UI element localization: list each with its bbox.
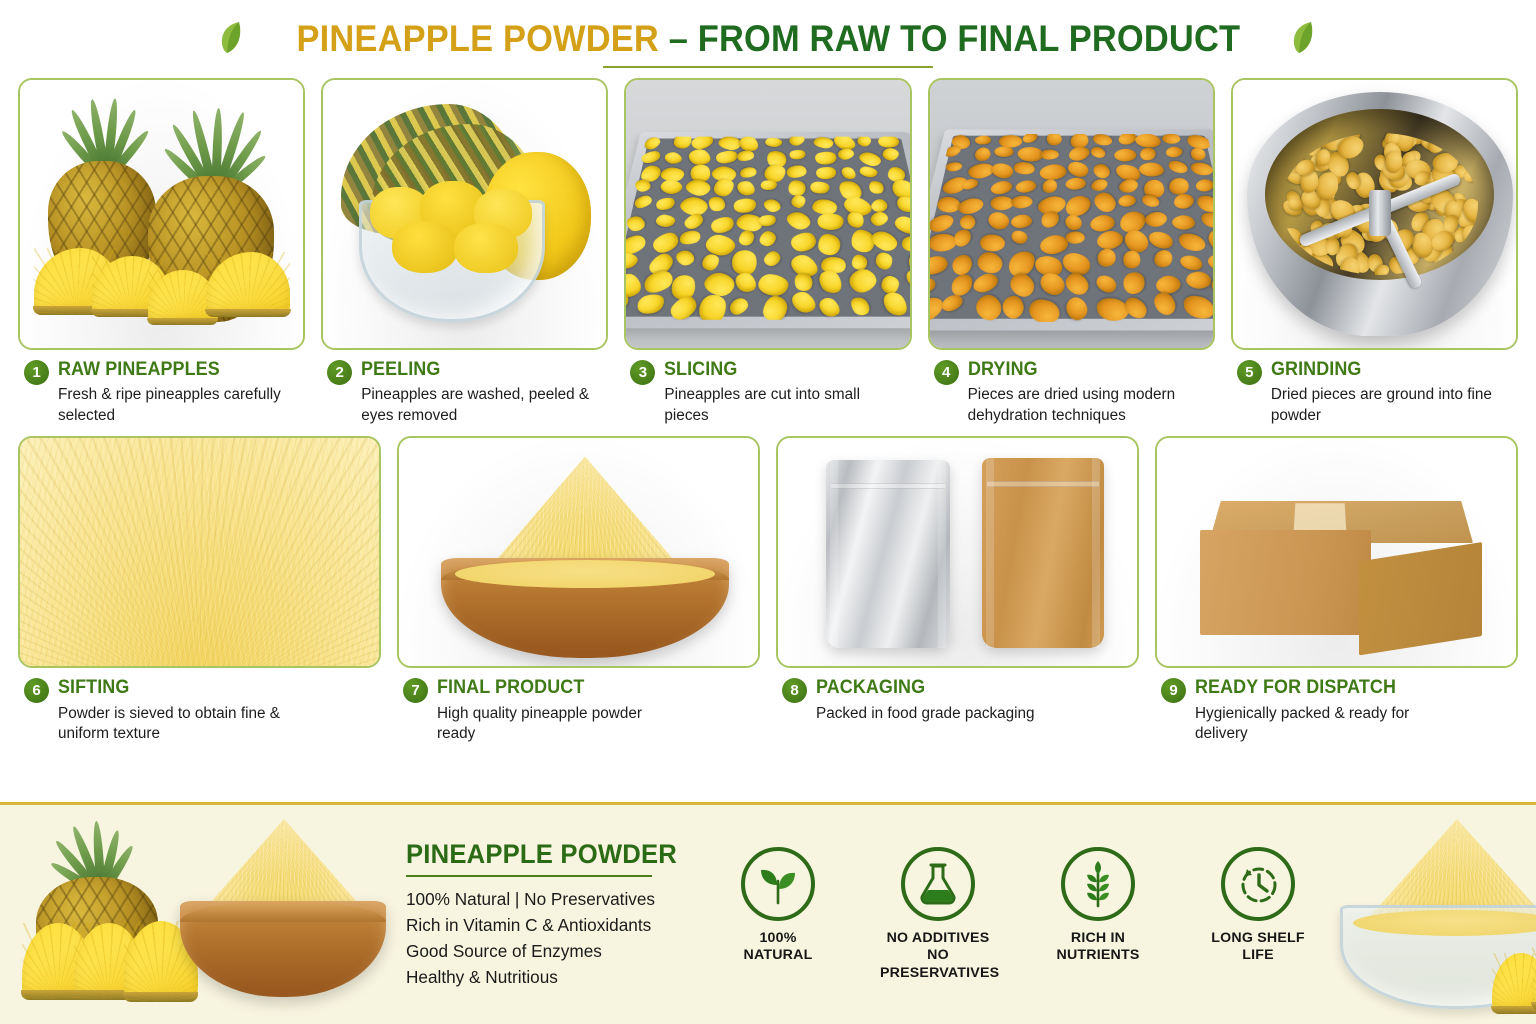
banner-text-block: PINEAPPLE POWDER 100% Natural | No Prese… [400, 839, 690, 991]
badge-label-line1: NO ADDITIVES [880, 930, 996, 947]
process-step-3: 3 SLICING Pineapples are cut into small … [624, 78, 911, 426]
step-number-badge: 7 [403, 678, 428, 703]
badge-label-line1: LONG SHELF [1200, 930, 1316, 947]
step-description: Fresh & ripe pineapples carefully select… [58, 385, 293, 426]
flask-icon [901, 847, 975, 921]
step-number-badge: 9 [1161, 678, 1186, 703]
process-row-bottom: 6 SIFTING Powder is sieved to obtain fin… [0, 436, 1536, 744]
page-title: PINEAPPLE POWDER – FROM RAW TO FINAL PRO… [296, 18, 1240, 60]
process-step-6: 6 SIFTING Powder is sieved to obtain fin… [18, 436, 381, 744]
step-description: High quality pineapple powder ready [437, 704, 672, 745]
banner-title: PINEAPPLE POWDER [406, 839, 676, 870]
step-image-peeling [321, 78, 608, 350]
step-description: Packed in food grade packaging [816, 704, 1051, 724]
step-title: SLICING [664, 359, 890, 380]
badge-long-shelf-life: LONG SHELF LIFE [1200, 847, 1316, 982]
step-title: PACKAGING [816, 677, 1111, 698]
step-image-raw-pineapples [18, 78, 305, 350]
step-description: Pineapples are washed, peeled & eyes rem… [361, 385, 596, 426]
title-underline [603, 66, 933, 68]
badge-no-additives: NO ADDITIVES NO PRESERVATIVES [880, 847, 996, 982]
badge-label-line2: LIFE [1200, 947, 1316, 964]
banner-right-image [1316, 805, 1536, 1024]
page-header: PINEAPPLE POWDER – FROM RAW TO FINAL PRO… [0, 0, 1536, 78]
banner-benefit-line: Rich in Vitamin C & Antioxidants [406, 912, 690, 938]
step-image-sifting [18, 436, 381, 668]
two-leaves-icon [741, 847, 815, 921]
banner-underline [406, 875, 652, 877]
badge-100-natural: 100% NATURAL [720, 847, 836, 982]
step-title: PEELING [361, 359, 587, 380]
banner-benefit-line: Healthy & Nutritious [406, 964, 690, 990]
process-step-7: 7 FINAL PRODUCT High quality pineapple p… [397, 436, 760, 744]
step-image-slicing [624, 78, 911, 350]
process-step-8: 8 PACKAGING Packed in food grade packagi… [776, 436, 1139, 744]
step-image-final-product [397, 436, 760, 668]
step-description: Pineapples are cut into small pieces [664, 385, 899, 426]
process-step-1: 1 RAW PINEAPPLES Fresh & ripe pineapples… [18, 78, 305, 426]
banner-benefit-line: Good Source of Enzymes [406, 938, 690, 964]
banner-left-image [0, 805, 400, 1024]
page-title-primary: PINEAPPLE POWDER [296, 18, 658, 59]
step-number-badge: 1 [24, 360, 49, 385]
step-number-badge: 6 [24, 678, 49, 703]
step-description: Hygienically packed & ready for delivery [1195, 704, 1430, 745]
banner-benefit-line: 100% Natural | No Preservatives [406, 886, 690, 912]
step-number-badge: 3 [630, 360, 655, 385]
page-title-secondary: – FROM RAW TO FINAL PRODUCT [668, 18, 1240, 59]
step-title: SIFTING [58, 677, 353, 698]
badge-rich-in-nutrients: RICH IN NUTRIENTS [1040, 847, 1156, 982]
badge-label-line2: NUTRIENTS [1040, 947, 1156, 964]
process-step-2: 2 PEELING Pineapples are washed, peeled … [321, 78, 608, 426]
process-row-top: 1 RAW PINEAPPLES Fresh & ripe pineapples… [0, 78, 1536, 426]
step-number-badge: 4 [934, 360, 959, 385]
leaf-icon [217, 20, 247, 59]
process-step-5: 5 GRINDING Dried pieces are ground into … [1231, 78, 1518, 426]
step-title: FINAL PRODUCT [437, 677, 732, 698]
step-title: DRYING [968, 359, 1194, 380]
badge-label-line1: RICH IN [1040, 930, 1156, 947]
step-description: Pieces are dried using modern dehydratio… [968, 385, 1203, 426]
process-step-4: 4 DRYING Pieces are dried using modern d… [928, 78, 1215, 426]
product-banner: PINEAPPLE POWDER 100% Natural | No Prese… [0, 802, 1536, 1024]
step-image-ready-for-dispatch [1155, 436, 1518, 668]
clock-icon [1221, 847, 1295, 921]
step-image-grinding [1231, 78, 1518, 350]
step-number-badge: 5 [1237, 360, 1262, 385]
badge-label-line2: NO PRESERVATIVES [880, 947, 996, 982]
wheat-stalk-icon [1061, 847, 1135, 921]
step-image-packaging [776, 436, 1139, 668]
benefit-badges: 100% NATURAL NO ADDITIVES NO PRESERVATIV… [690, 847, 1316, 982]
step-description: Dried pieces are ground into fine powder [1271, 385, 1506, 426]
step-title: GRINDING [1271, 359, 1497, 380]
step-image-drying [928, 78, 1215, 350]
badge-label-line2: NATURAL [720, 947, 836, 964]
step-number-badge: 2 [327, 360, 352, 385]
step-title: READY FOR DISPATCH [1195, 677, 1490, 698]
step-title: RAW PINEAPPLES [58, 359, 284, 380]
process-step-9: 9 READY FOR DISPATCH Hygienically packed… [1155, 436, 1518, 744]
step-number-badge: 8 [782, 678, 807, 703]
step-description: Powder is sieved to obtain fine & unifor… [58, 704, 293, 745]
leaf-icon [1289, 20, 1319, 59]
badge-label-line1: 100% [720, 930, 836, 947]
